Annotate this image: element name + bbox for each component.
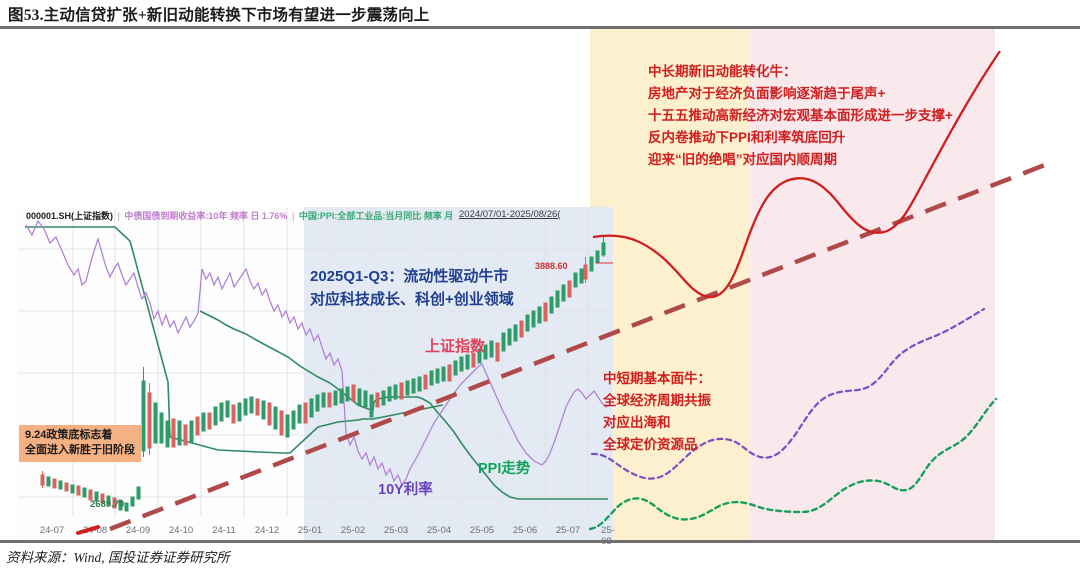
annotation-short-term-line3: 对应出海和 [603,412,711,434]
footer-divider [0,540,1080,543]
x-axis-tick: 24-09 [126,525,150,536]
wind-terminal-panel: 000001.SH(上证指数) | 中债国债到期收益率:10年 频率 日 1.7… [18,207,613,540]
series-label-ppi: PPI走势 [478,457,530,478]
annotation-short-term-line4: 全球定价资源品 [603,434,711,456]
annotation-long-term-line4: 反内卷推动下PPI和利率筑底回升 [648,127,953,149]
date-range-label: 2024/07/01-2025/08/26( [459,209,560,220]
annotation-long-term-line3: 十五五推动高新经济对宏观基本面形成进一步支撑+ [648,105,953,127]
x-axis-tick: 25-03 [384,525,408,536]
x-axis-tick: 24-11 [212,525,236,536]
legend-index-label: 000001.SH(上证指数) [26,211,113,221]
x-axis-tick: 25-07 [556,525,580,536]
chart-canvas: 000001.SH(上证指数) | 中债国债到期收益率:10年 频率 日 1.7… [0,29,1080,540]
x-axis-tick: 25-01 [298,525,322,536]
x-axis-tick: 25-02 [341,525,365,536]
x-axis-tick: 25-06 [513,525,537,536]
x-axis-tick: 24-10 [169,525,193,536]
legend-separator-1: | [116,211,122,221]
annotation-short-term-bull: 中短期基本面牛： 全球经济周期共振 对应出海和 全球定价资源品 [603,368,711,456]
annotation-long-term-line2: 房地产对于经济负面影响逐渐趋于尾声+ [648,83,953,105]
x-axis-tick: 25-05 [470,525,494,536]
series-label-rate: 10Y利率 [378,478,433,499]
annotation-short-term-line2: 全球经济周期共振 [603,390,711,412]
annotation-long-term-bull: 中长期新旧动能转化牛： 房地产对于经济负面影响逐渐趋于尾声+ 十五五推动高新经济… [648,61,953,171]
legend-separator-2: | [290,211,296,221]
annotation-short-term-line1: 中短期基本面牛： [603,368,711,390]
x-axis-tick: 24-07 [40,525,64,536]
figure-root: 图53.主动信贷扩张+新旧动能转换下市场有望进一步震荡向上 [0,0,1080,569]
x-axis-tick: 25-04 [427,525,451,536]
annotation-liquidity-line1: 2025Q1-Q3：流动性驱动牛市 [310,265,514,288]
annotation-long-term-line5: 迎来“旧的绝唱”对应国内顺周期 [648,149,953,171]
series-label-index: 上证指数 [425,335,485,356]
annotation-long-term-line1: 中长期新旧动能转化牛： [648,61,953,83]
annotation-policy-bottom-line1: 9.24政策底标志着 [25,428,135,443]
value-label-high: 3888.60 [535,261,568,271]
wind-series-svg [18,207,613,540]
wind-legend: 000001.SH(上证指数) | 中债国债到期收益率:10年 频率 日 1.7… [26,209,453,223]
source-note: 资料来源：Wind, 国投证券证券研究所 [6,546,706,568]
legend-ppi-label: 中国:PPI:全部工业品:当月同比 频率 月 [299,211,454,221]
page-title: 图53.主动信贷扩张+新旧动能转换下市场有望进一步震荡向上 [8,3,1068,27]
x-axis-tick: 24-08 [83,525,107,536]
value-label-low: 2689.70 [90,499,124,510]
x-axis-tick: 25-08 [601,525,615,547]
legend-rate-label: 中债国债到期收益率:10年 频率 日 1.76% [124,211,287,221]
annotation-liquidity-line2: 对应科技成长、科创+创业领域 [310,288,514,311]
annotation-policy-bottom: 9.24政策底标志着 全面进入新胜于旧阶段 [19,425,141,462]
x-axis-tick: 24-12 [255,525,279,536]
annotation-liquidity-bull: 2025Q1-Q3：流动性驱动牛市 对应科技成长、科创+创业领域 [310,265,514,311]
annotation-policy-bottom-line2: 全面进入新胜于旧阶段 [25,443,135,458]
